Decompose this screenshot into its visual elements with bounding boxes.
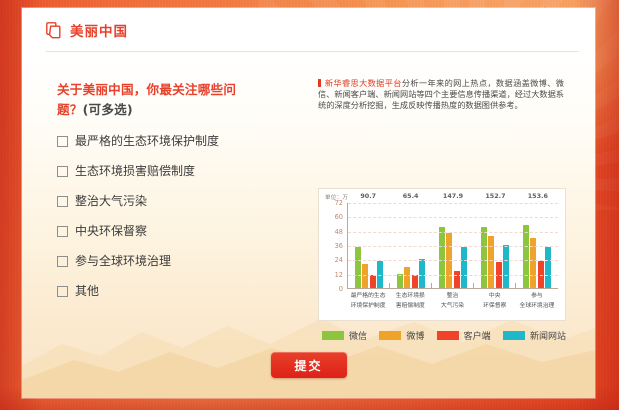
option-label: 参与全球环境治理 (75, 254, 171, 268)
chart-group-total: 65.4 (389, 192, 431, 202)
checkbox-icon[interactable] (57, 196, 68, 207)
option-item[interactable]: 参与全球环境治理 (57, 254, 285, 268)
legend-label: 微信 (349, 329, 367, 342)
option-item[interactable]: 生态环境损害赔偿制度 (57, 164, 285, 178)
legend-swatch-icon (503, 331, 525, 340)
chart-bar (419, 259, 425, 288)
chart-bar (461, 247, 467, 288)
intro-paragraph: 新华睿思大数据平台分析一年来的网上热点，数据涵盖微博、微信、新闻客户端、新闻网站… (318, 78, 564, 112)
question-title-line2: 题？ (57, 102, 83, 117)
chart-gridline (348, 260, 558, 261)
chart-bar (355, 247, 361, 288)
legend-label: 客户端 (464, 329, 491, 342)
chart-bar (523, 225, 529, 288)
legend-item[interactable]: 微博 (379, 329, 424, 342)
legend-swatch-icon (437, 331, 459, 340)
chart-gridline (348, 246, 558, 247)
chart-bar (454, 271, 460, 288)
chart-bar (397, 274, 403, 288)
option-label: 中央环保督察 (75, 224, 147, 238)
option-label: 最严格的生态环境保护制度 (75, 134, 219, 148)
chart-plot-area (347, 203, 558, 289)
chart-gridline (348, 203, 558, 204)
option-label: 其他 (75, 284, 99, 298)
chart-gridline (348, 232, 558, 233)
chart-bar (545, 247, 551, 288)
tab-title: 美丽中国 (70, 20, 128, 40)
option-item[interactable]: 中央环保督察 (57, 224, 285, 238)
chart-y-tick: 60 (321, 213, 343, 221)
chart-bar (412, 275, 418, 288)
chart-group-total: 147.9 (432, 192, 474, 202)
legend-item[interactable]: 客户端 (437, 329, 491, 342)
chart-bar (481, 227, 487, 288)
chart-y-tick: 0 (321, 285, 343, 293)
question-title: 关于美丽中国，你最关注哪些问 题？(可多选) (57, 80, 285, 120)
legend-item[interactable]: 新闻网站 (503, 329, 566, 342)
legend-swatch-icon (379, 331, 401, 340)
chart-x-tick: 最严格的生态环境保护制度 (347, 290, 389, 318)
chart-y-tick: 48 (321, 228, 343, 236)
intro-highlight: 新华睿思大数据平台 (325, 78, 402, 88)
option-item[interactable]: 最严格的生态环境保护制度 (57, 134, 285, 148)
question-column: 关于美丽中国，你最关注哪些问 题？(可多选) 最严格的生态环境保护制度 生态环境… (57, 80, 285, 314)
chart-legend: 微信微博客户端新闻网站 (322, 328, 566, 342)
intro-column: 新华睿思大数据平台分析一年来的网上热点，数据涵盖微博、微信、新闻客户端、新闻网站… (318, 78, 564, 112)
card-body: 关于美丽中国，你最关注哪些问 题？(可多选) 最严格的生态环境保护制度 生态环境… (22, 52, 595, 398)
chart-panel: 单位：万 90.765.4147.9152.7153.6 01224364860… (318, 188, 566, 321)
chart-x-tick: 参与全球环境治理 (516, 290, 558, 318)
chart-x-tick: 生态环境损害赔偿制度 (389, 290, 431, 318)
content-card: 美丽中国 关于美丽中国，你最关注哪些问 题？(可多选) 最严格的生态环境保护 (22, 8, 595, 398)
chart-x-axis: 最严格的生态环境保护制度生态环境损害赔偿制度整治大气污染中央环保督察参与全球环境… (347, 290, 558, 318)
chart-y-tick: 12 (321, 271, 343, 279)
checkbox-icon[interactable] (57, 136, 68, 147)
header-tab[interactable]: 美丽中国 (22, 8, 190, 52)
chart-y-tick: 36 (321, 242, 343, 250)
option-label: 整治大气污染 (75, 194, 147, 208)
checkbox-icon[interactable] (57, 256, 68, 267)
chart-gridline (348, 217, 558, 218)
chart-group-total: 90.7 (347, 192, 389, 202)
chart-gridline (348, 275, 558, 276)
accent-bar-icon (318, 79, 321, 87)
question-title-note: (可多选) (83, 102, 133, 117)
submit-row: 提交 (22, 352, 595, 378)
chart-bar (503, 245, 509, 288)
copy-document-icon (46, 22, 62, 39)
legend-item[interactable]: 微信 (322, 329, 367, 342)
checkbox-icon[interactable] (57, 166, 68, 177)
chart-y-tick: 24 (321, 256, 343, 264)
chart-bar (404, 267, 410, 288)
legend-label: 微博 (406, 329, 424, 342)
option-label: 生态环境损害赔偿制度 (75, 164, 195, 178)
chart-bar (488, 236, 494, 288)
page-root: 美丽中国 关于美丽中国，你最关注哪些问 题？(可多选) 最严格的生态环境保护 (0, 0, 619, 410)
chart-total-labels: 90.765.4147.9152.7153.6 (347, 192, 559, 202)
chart-group-total: 153.6 (517, 192, 559, 202)
chart-y-tick: 72 (321, 199, 343, 207)
checkbox-icon[interactable] (57, 286, 68, 297)
chart-group-total: 152.7 (474, 192, 516, 202)
chart-bar (439, 227, 445, 288)
option-item[interactable]: 整治大气污染 (57, 194, 285, 208)
legend-label: 新闻网站 (530, 329, 566, 342)
chart-x-tick: 整治大气污染 (431, 290, 473, 318)
option-item[interactable]: 其他 (57, 284, 285, 298)
chart-bar (362, 264, 368, 288)
question-title-line1: 关于美丽中国，你最关注哪些问 (57, 82, 236, 97)
chart-bar (370, 275, 376, 288)
legend-swatch-icon (322, 331, 344, 340)
checkbox-icon[interactable] (57, 226, 68, 237)
chart-x-tick: 中央环保督察 (474, 290, 516, 318)
submit-button[interactable]: 提交 (271, 352, 347, 378)
